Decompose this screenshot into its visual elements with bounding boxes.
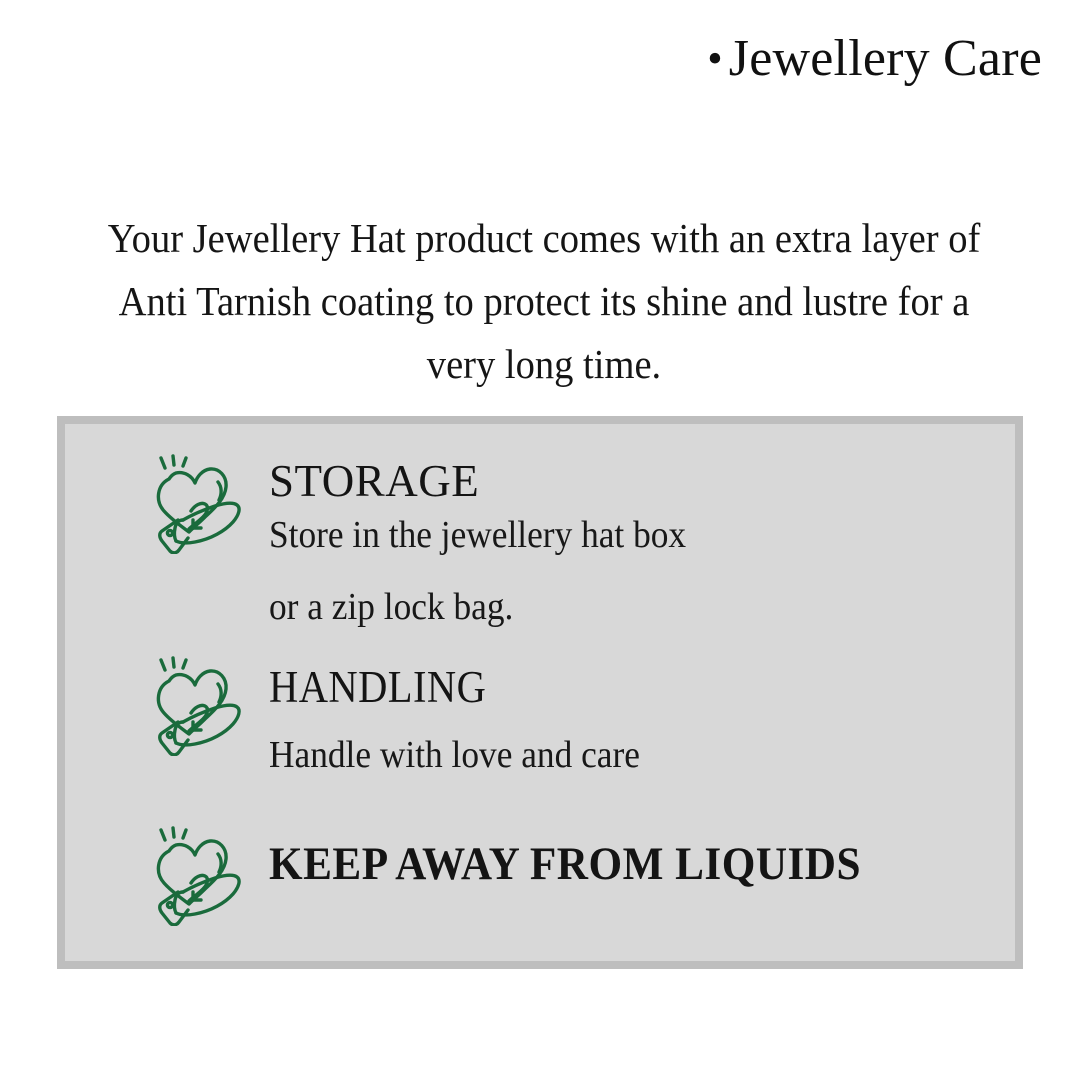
bullet-icon: • (707, 34, 723, 83)
page-title-text: Jewellery Care (729, 30, 1042, 87)
heart-in-hand-icon (147, 454, 251, 554)
care-heading: KEEP AWAY FROM LIQUIDS (269, 834, 861, 894)
page-title: •Jewellery Care (0, 28, 1042, 90)
care-instruction-list: STORAGE Store in the jewellery hat box o… (65, 424, 1015, 961)
care-line: or a zip lock bag. (269, 578, 686, 636)
care-text-liquids: KEEP AWAY FROM LIQUIDS (269, 822, 912, 894)
care-heading: STORAGE (269, 456, 718, 506)
heart-in-hand-icon (147, 826, 251, 926)
intro-paragraph: Your Jewellery Hat product comes with an… (98, 207, 989, 396)
care-text-handling: HANDLING Handle with love and care (269, 652, 668, 784)
jewellery-care-panel: STORAGE Store in the jewellery hat box o… (57, 416, 1023, 969)
care-line: Handle with love and care (269, 726, 640, 784)
heart-in-hand-icon (147, 656, 251, 756)
care-row-handling: HANDLING Handle with love and care (147, 652, 668, 784)
care-row-liquids: KEEP AWAY FROM LIQUIDS (147, 822, 912, 926)
care-text-storage: STORAGE Store in the jewellery hat box o… (269, 450, 718, 636)
care-line: Store in the jewellery hat box (269, 506, 686, 564)
care-row-storage: STORAGE Store in the jewellery hat box o… (147, 450, 718, 636)
care-heading: HANDLING (269, 662, 628, 712)
